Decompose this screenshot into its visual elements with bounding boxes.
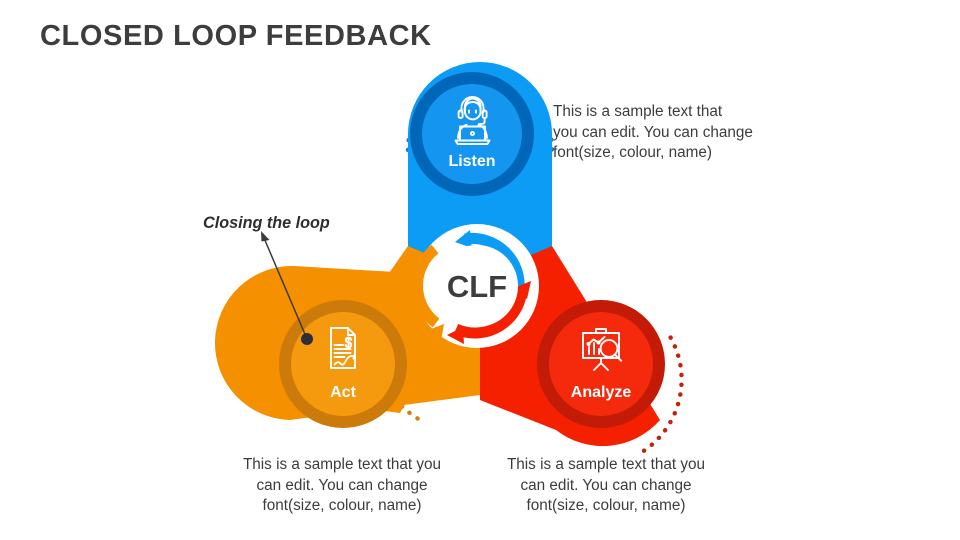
analyze-description: This is a sample text that you can edit.…: [492, 455, 720, 517]
analyze-description-line: can edit. You can change: [492, 476, 720, 497]
slide-canvas: CLOSED LOOP FEEDBACK: [0, 0, 960, 540]
listen-description: This is a sample text that you can edit.…: [553, 102, 758, 164]
listen-label: Listen: [448, 153, 495, 170]
center-label: CLF: [447, 269, 507, 304]
act-description-line: font(size, colour, name): [228, 496, 456, 517]
center-hub[interactable]: CLF: [415, 224, 539, 348]
closing-loop-label: Closing the loop: [203, 214, 330, 233]
closing-loop-anchor-dot: [301, 333, 313, 345]
act-description: This is a sample text that you can edit.…: [228, 455, 456, 517]
analyze-label: Analyze: [571, 384, 632, 401]
act-label: Act: [330, 384, 356, 401]
closed-loop-diagram: Listen Act: [0, 0, 960, 540]
node-analyze[interactable]: Analyze: [537, 300, 665, 428]
act-description-line: can edit. You can change: [228, 476, 456, 497]
analyze-description-line: font(size, colour, name): [492, 496, 720, 517]
listen-description-line: you can edit. You can change: [553, 123, 758, 144]
act-description-line: This is a sample text that you: [228, 455, 456, 476]
listen-description-line: This is a sample text that: [553, 102, 758, 123]
listen-description-line: font(size, colour, name): [553, 143, 758, 164]
analyze-description-line: This is a sample text that you: [492, 455, 720, 476]
node-listen[interactable]: Listen: [410, 72, 534, 196]
